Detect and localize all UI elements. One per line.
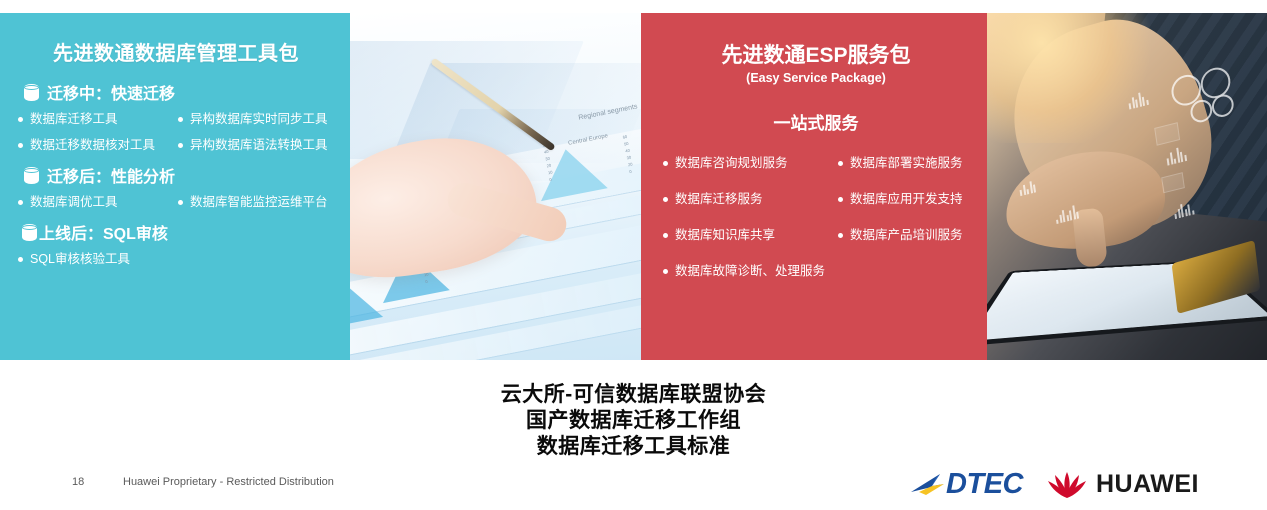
list-item: 数据库智能监控运维平台 (178, 195, 338, 210)
bullet-dot-icon (663, 233, 668, 238)
tools-package-title: 先进数通数据库管理工具包 (14, 37, 338, 66)
tools-package-panel: 先进数通数据库管理工具包 迁移中：快速迁移 数据库迁移工具 异构数据库实时同步工… (0, 13, 350, 360)
list-item: 数据库迁移工具 (18, 112, 178, 127)
list-item-label: 数据库部署实施服务 (850, 156, 963, 171)
list-item-label: 数据库智能监控运维平台 (190, 195, 328, 210)
list-item-label: 数据库知识库共享 (675, 228, 775, 243)
bullet-dot-icon (838, 161, 843, 166)
bullet-dot-icon (663, 197, 668, 202)
tool-list-after-golive: SQL审核核验工具 (18, 252, 338, 267)
database-icon (24, 84, 39, 101)
bullet-dot-icon (18, 143, 23, 148)
list-item-label: 数据库产品培训服务 (850, 228, 963, 243)
section-heading-after-golive: 上线后：SQL审核 (22, 220, 338, 244)
huawei-logo: HUAWEI (1047, 470, 1199, 499)
section-heading-label: 迁移中：快速迁移 (47, 80, 175, 104)
list-item-label: 异构数据库语法转换工具 (190, 138, 328, 153)
list-item: 数据库应用开发支持 (838, 192, 977, 207)
list-item-label: 数据库应用开发支持 (850, 192, 963, 207)
bullet-dot-icon (663, 161, 668, 166)
section-heading-during-migration: 迁移中：快速迁移 (24, 80, 338, 104)
list-item: 异构数据库实时同步工具 (178, 112, 338, 127)
huawei-flower-icon (1047, 471, 1087, 499)
bullet-dot-icon (663, 269, 668, 274)
caption-line-3: 数据库迁移工具标准 (0, 434, 1267, 460)
slide-footer: 18 Huawei Proprietary - Restricted Distr… (0, 464, 1267, 510)
list-item: 数据库产品培训服务 (838, 228, 977, 243)
section-heading-after-migration: 迁移后：性能分析 (24, 163, 338, 187)
esp-title: 先进数通ESP服务包 (655, 39, 977, 69)
bullet-dot-icon (838, 233, 843, 238)
list-item: 数据库部署实施服务 (838, 156, 977, 171)
decorative-photo-charts: Regional segments Central Europe West Eu… (350, 13, 642, 360)
database-icon (24, 167, 39, 184)
list-item: SQL审核核验工具 (18, 252, 338, 267)
section-heading-label: 迁移后：性能分析 (47, 163, 175, 187)
caption-line-2: 国产数据库迁移工作组 (0, 408, 1267, 434)
bullet-dot-icon (18, 200, 23, 205)
list-item-label: 数据库咨询规划服务 (675, 156, 788, 171)
database-icon (22, 224, 37, 241)
esp-service-list: 数据库咨询规划服务 数据库部署实施服务 数据库迁移服务 数据库应用开发支持 数据… (663, 156, 977, 279)
bullet-dot-icon (178, 200, 183, 205)
bullet-dot-icon (178, 143, 183, 148)
list-item-label: 数据库故障诊断、处理服务 (675, 264, 825, 279)
list-item: 数据库咨询规划服务 (663, 156, 838, 171)
tool-list-after-migration: 数据库调优工具 数据库智能监控运维平台 (18, 195, 338, 210)
list-item: 数据库知识库共享 (663, 228, 838, 243)
page-number: 18 (72, 476, 84, 488)
esp-subtitle: (Easy Service Package) (655, 71, 977, 85)
confidentiality-notice: Huawei Proprietary - Restricted Distribu… (123, 476, 334, 488)
list-item: 数据迁移数据核对工具 (18, 138, 178, 153)
esp-service-package-panel: 先进数通ESP服务包 (Easy Service Package) 一站式服务 … (641, 13, 987, 360)
bullet-dot-icon (18, 257, 23, 262)
decorative-photo-tablet (987, 13, 1267, 360)
list-item-label: 数据迁移数据核对工具 (30, 138, 155, 153)
bullet-dot-icon (178, 117, 183, 122)
list-item-label: 异构数据库实时同步工具 (190, 112, 328, 127)
hero-banner: Regional segments Central Europe West Eu… (0, 13, 1267, 360)
dtec-arrow-icon (910, 472, 950, 498)
list-item: 数据库调优工具 (18, 195, 178, 210)
dtec-logo: DTEC (910, 468, 1023, 501)
esp-tagline: 一站式服务 (655, 109, 977, 134)
section-heading-label: 上线后：SQL审核 (39, 220, 168, 244)
list-item-label: 数据库迁移服务 (675, 192, 763, 207)
huawei-wordmark: HUAWEI (1096, 470, 1199, 499)
dtec-wordmark: DTEC (946, 468, 1023, 501)
list-item: 异构数据库语法转换工具 (178, 138, 338, 153)
bullet-dot-icon (18, 117, 23, 122)
list-item-label: SQL审核核验工具 (30, 252, 130, 267)
tool-list-during-migration: 数据库迁移工具 异构数据库实时同步工具 数据迁移数据核对工具 异构数据库语法转换… (18, 112, 338, 153)
caption-block: 云大所-可信数据库联盟协会 国产数据库迁移工作组 数据库迁移工具标准 (0, 382, 1267, 460)
bullet-dot-icon (838, 197, 843, 202)
list-item: 数据库迁移服务 (663, 192, 838, 207)
list-item-label: 数据库调优工具 (30, 195, 118, 210)
logo-group: DTEC HUAWEI (910, 468, 1199, 501)
list-item-label: 数据库迁移工具 (30, 112, 118, 127)
caption-line-1: 云大所-可信数据库联盟协会 (0, 382, 1267, 408)
list-item: 数据库故障诊断、处理服务 (663, 264, 838, 279)
